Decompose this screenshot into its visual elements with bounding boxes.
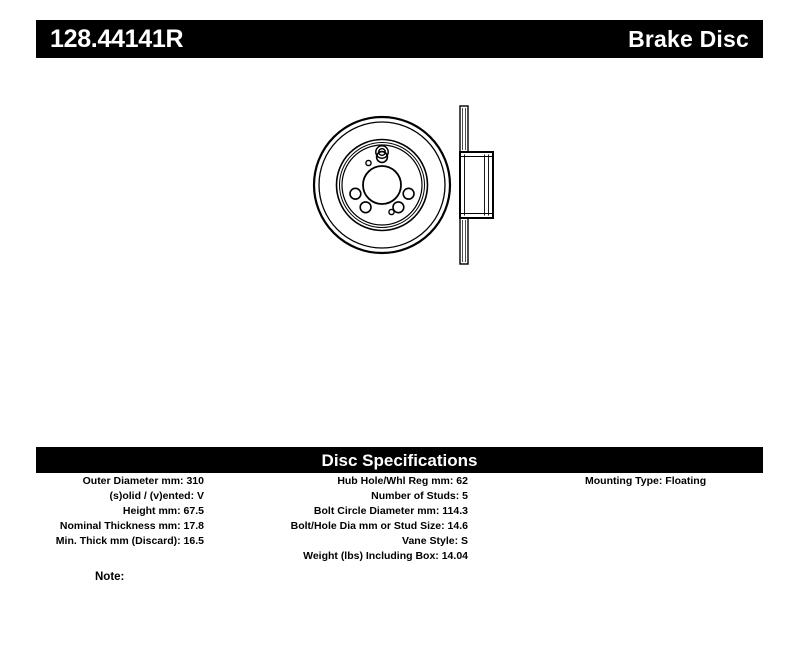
spec-column-middle: Hub Hole/Whl Reg mm: 62 Number of Studs:… bbox=[232, 474, 468, 564]
product-header-bar: 128.44141R Brake Disc bbox=[36, 20, 763, 58]
spec-row: Hub Hole/Whl Reg mm: 62 bbox=[232, 474, 468, 489]
spec-row: (s)olid / (v)ented: V bbox=[36, 489, 204, 504]
rotor-edge-profile-view bbox=[460, 106, 493, 264]
spec-row: Nominal Thickness mm: 17.8 bbox=[36, 519, 204, 534]
spec-row: Weight (lbs) Including Box: 14.04 bbox=[232, 549, 468, 564]
spec-row: Vane Style: S bbox=[232, 534, 468, 549]
note-row: Note: bbox=[95, 570, 132, 585]
specifications-columns: Outer Diameter mm: 310 (s)olid / (v)ente… bbox=[36, 474, 763, 584]
spec-row: Min. Thick mm (Discard): 16.5 bbox=[36, 534, 204, 549]
spec-row: Bolt/Hole Dia mm or Stud Size: 14.6 bbox=[232, 519, 468, 534]
spec-row: Height mm: 67.5 bbox=[36, 504, 204, 519]
note-label: Note: bbox=[95, 571, 124, 583]
brake-disc-technical-drawing bbox=[270, 90, 550, 300]
spec-row: Bolt Circle Diameter mm: 114.3 bbox=[232, 504, 468, 519]
rotor-face-view bbox=[314, 117, 450, 253]
spec-column-left: Outer Diameter mm: 310 (s)olid / (v)ente… bbox=[36, 474, 204, 549]
part-number-label: 128.44141R bbox=[50, 27, 183, 52]
product-type-label: Brake Disc bbox=[628, 28, 749, 51]
spec-column-right: Mounting Type: Floating bbox=[585, 474, 763, 489]
spec-row: Mounting Type: Floating bbox=[585, 474, 763, 489]
disc-specifications-bar: Disc Specifications bbox=[36, 447, 763, 473]
spec-row: Outer Diameter mm: 310 bbox=[36, 474, 204, 489]
spec-row: Number of Studs: 5 bbox=[232, 489, 468, 504]
disc-specifications-title: Disc Specifications bbox=[322, 452, 478, 469]
